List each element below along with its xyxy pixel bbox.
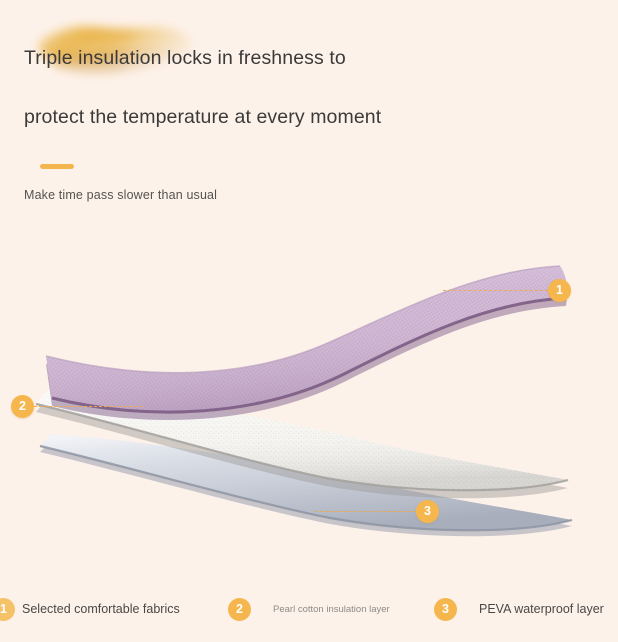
legend-item-3[interactable]: 3 PEVA waterproof layer — [434, 596, 604, 622]
legend-badge-1: 1 — [0, 598, 15, 621]
callout-badge-2[interactable]: 2 — [11, 395, 34, 418]
layered-fabric-diagram — [0, 240, 618, 560]
accent-dash-rule — [40, 164, 74, 169]
legend-label-3: PEVA waterproof layer — [479, 602, 604, 616]
leader-line-1 — [443, 290, 548, 291]
callout-badge-1[interactable]: 1 — [548, 279, 571, 302]
legend-item-2[interactable]: 2 Pearl cotton insulation layer — [228, 596, 390, 622]
headline-line-1: Triple insulation locks in freshness to — [24, 47, 346, 70]
callout-badge-3[interactable]: 3 — [416, 500, 439, 523]
legend-badge-2: 2 — [228, 598, 251, 621]
legend-label-2: Pearl cotton insulation layer — [273, 604, 390, 615]
layer-legend: 1 Selected comfortable fabrics 2 Pearl c… — [0, 596, 618, 630]
subtitle-text: Make time pass slower than usual — [24, 188, 217, 202]
product-infographic: Triple insulation locks in freshness to … — [0, 0, 618, 642]
leader-line-2 — [34, 406, 142, 407]
headline-line-2: protect the temperature at every moment — [24, 106, 381, 129]
legend-item-1[interactable]: 1 Selected comfortable fabrics — [0, 596, 180, 622]
leader-line-3 — [315, 511, 416, 512]
legend-label-1: Selected comfortable fabrics — [22, 602, 180, 616]
legend-badge-3: 3 — [434, 598, 457, 621]
